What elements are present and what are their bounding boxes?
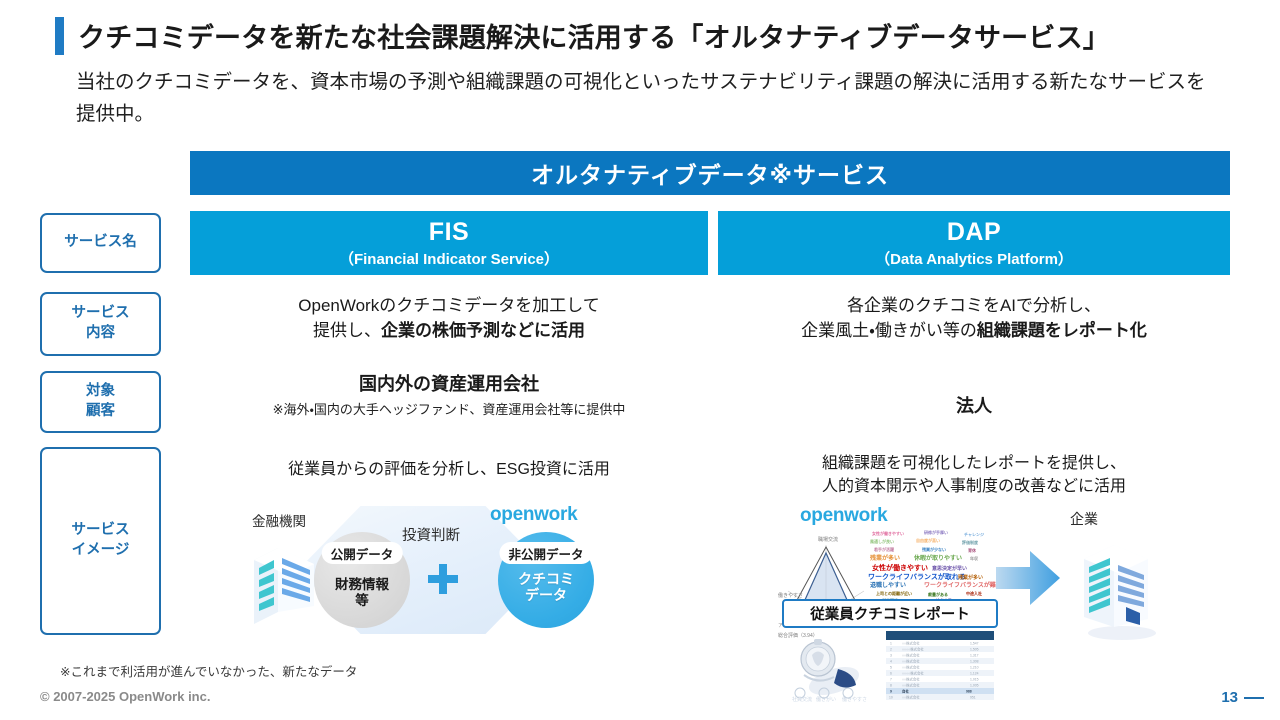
svg-text:ワークライフバランスが取れる: ワークライフバランスが取れる [868, 572, 966, 581]
service-description-dap: 各企業のクチコミをAIで分析し、 企業風土・働きがい等の組織課題をレポート化 [718, 294, 1230, 343]
row-label-service-image-text: サービス イメージ [72, 521, 130, 560]
openwork-logo-fis: openwork [490, 504, 577, 526]
svg-text:研修が手厚い: 研修が手厚い [924, 529, 948, 535]
ranking-table-thumbnail: 1○○株式会社1,547 2○○○○株式会社1,505 3○○株式会社1,317… [886, 631, 994, 703]
service-fullname-fis: （Financial Indicator Service） [339, 248, 559, 269]
svg-text:1,210: 1,210 [970, 665, 979, 669]
svg-text:8: 8 [890, 683, 892, 687]
svg-text:1,547: 1,547 [970, 641, 979, 645]
svg-text:10: 10 [889, 695, 893, 699]
service-header-dap: DAP （Data Analytics Platform） [718, 211, 1230, 275]
dap-desc-line2-bold: 組織課題をレポート化 [977, 321, 1147, 340]
company-building-icon [1070, 529, 1162, 641]
svg-text:1,505: 1,505 [970, 647, 979, 651]
bank-building-icon [248, 534, 324, 626]
svg-text:2: 2 [890, 647, 892, 651]
svg-text:育休: 育休 [968, 547, 977, 553]
svg-text:風通しが良い: 風通しが良い [869, 538, 894, 544]
svg-text:5: 5 [890, 665, 892, 669]
svg-text:4: 4 [890, 659, 892, 663]
svg-text:上司との距離が近い: 上司との距離が近い [876, 590, 912, 596]
svg-text:1,015: 1,015 [970, 677, 979, 681]
service-image-caption-dap: 組織課題を可視化したレポートを提供し、 人的資本開示や人事制度の改善などに活用 [718, 452, 1230, 498]
row-label-service-content: サービス 内容 [40, 292, 161, 356]
row-label-target-customer: 対象 顧客 [40, 371, 161, 433]
title-accent-bar [55, 17, 64, 55]
fis-target-sub: ※海外・国内の大手ヘッジファンド、資産運用会社等に提供中 [190, 401, 708, 419]
svg-text:年収: 年収 [970, 555, 979, 561]
fis-illustration: 金融機関 公開データ 財務情報 等 投資判断 [240, 500, 640, 640]
page-number-group: 13 [1221, 689, 1264, 706]
svg-text:○○株式会社: ○○株式会社 [902, 640, 920, 645]
target-customer-dap: 法人 [718, 394, 1230, 419]
svg-text:1,005: 1,005 [970, 683, 979, 687]
fis-desc-line2-normal: 提供し、 [313, 321, 381, 340]
private-data-circle: 非公開データ クチコミ データ [498, 532, 594, 628]
plus-icon [426, 562, 460, 596]
flow-arrow-icon [994, 543, 1064, 613]
svg-text:チャレンジ: チャレンジ [964, 532, 984, 537]
service-abbr-dap: DAP [947, 218, 1001, 247]
private-data-pill-label: 非公開データ [499, 542, 592, 564]
svg-text:6: 6 [890, 671, 892, 675]
svg-text:○○株式会社: ○○株式会社 [902, 676, 920, 681]
svg-text:1,308: 1,308 [970, 659, 979, 663]
svg-text:働きやすさ: 働きやすさ [778, 592, 803, 599]
service-header-fis: FIS （Financial Indicator Service） [190, 211, 708, 275]
svg-text:中途入社: 中途入社 [966, 590, 982, 596]
openwork-logo-dap: openwork [800, 505, 887, 527]
row-label-service-name-text: サービス名 [64, 233, 137, 253]
private-data-body-text: クチコミ データ [518, 571, 574, 603]
public-data-circle: 公開データ 財務情報 等 [314, 532, 410, 628]
svg-text:○○株式会社: ○○株式会社 [902, 664, 920, 669]
page-number-rule [1244, 697, 1264, 699]
service-fullname-dap: （Data Analytics Platform） [875, 248, 1073, 269]
slide-subtitle: 当社のクチコミデータを、資本市場の予測や組織課題の可視化といったサステナビリティ… [76, 66, 1206, 130]
alternative-data-band: オルタナティブデータ※サービス [190, 151, 1230, 195]
service-description-fis: OpenWorkのクチコミデータを加工して 提供し、企業の株価予測などに活用 [190, 294, 708, 343]
row-label-service-image: サービス イメージ [40, 447, 161, 635]
svg-text:自由度が高い: 自由度が高い [916, 537, 940, 543]
svg-text:7: 7 [890, 677, 892, 681]
dap-target-main: 法人 [718, 394, 1230, 419]
svg-text:1,317: 1,317 [970, 653, 979, 657]
page-title: クチコミデータを新たな社会課題解決に活用する「オルタナティブデータサービス」 [78, 16, 1110, 55]
fis-desc-line2: 提供し、企業の株価予測などに活用 [190, 319, 708, 344]
svg-text:○○株式会社: ○○株式会社 [902, 658, 920, 663]
svg-text:○○○○株式会社: ○○○○株式会社 [902, 670, 924, 675]
svg-text:職場交流: 職場交流 [818, 536, 838, 543]
svg-text:3: 3 [890, 653, 892, 657]
row-label-target-customer-text: 対象 顧客 [86, 382, 115, 421]
svg-text:○○株式会社: ○○株式会社 [902, 652, 920, 657]
row-label-service-name: サービス名 [40, 213, 161, 273]
dap-desc-line2: 企業風土・働きがい等の組織課題をレポート化 [718, 319, 1230, 344]
svg-text:評価制度: 評価制度 [962, 539, 978, 545]
service-abbr-fis: FIS [429, 218, 469, 247]
svg-text:残業が少ない: 残業が少ない [921, 546, 946, 552]
svg-text:女性が働きやすい: 女性が働きやすい [872, 530, 904, 536]
fis-target-main: 国内外の資産運用会社 [190, 372, 708, 397]
svg-text:○○株式会社: ○○株式会社 [902, 694, 920, 699]
financial-institution-label: 金融機関 [252, 510, 306, 530]
slide-canvas: クチコミデータを新たな社会課題解決に活用する「オルタナティブデータサービス」 当… [0, 0, 1280, 720]
svg-text:9: 9 [890, 689, 892, 693]
dap-desc-line2-normal: 企業風土・働きがい等の [801, 321, 977, 340]
svg-text:残業が多い: 残業が多い [869, 554, 900, 562]
dap-desc-line1: 各企業のクチコミをAIで分析し、 [718, 294, 1230, 319]
slide-title-row: クチコミデータを新たな社会課題解決に活用する「オルタナティブデータサービス」 [55, 16, 1110, 55]
fis-desc-line1: OpenWorkのクチコミデータを加工して [190, 294, 708, 319]
svg-text:裁量がある: 裁量がある [928, 591, 948, 597]
svg-text:意思決定が早い: 意思決定が早い [931, 565, 967, 572]
investment-judgement-label: 投資判断 [402, 524, 460, 545]
target-customer-fis: 国内外の資産運用会社 ※海外・国内の大手ヘッジファンド、資産運用会社等に提供中 [190, 372, 708, 419]
svg-text:若手が活躍: 若手が活躍 [873, 546, 894, 552]
svg-text:残業が多い: 残業が多い [957, 574, 983, 581]
svg-text:951: 951 [970, 695, 976, 699]
fis-desc-line2-bold: 企業の株価予測などに活用 [381, 321, 585, 340]
copyright-text: © 2007-2025 OpenWork inc. [40, 689, 210, 704]
award-badge-icon: 社員交流働きがい働きやすさ [788, 631, 868, 707]
svg-text:休暇が取りやすい: 休暇が取りやすい [913, 554, 962, 562]
public-data-body-text: 財務情報 等 [335, 577, 389, 609]
public-data-pill-label: 公開データ [322, 542, 403, 564]
dap-illustration: openwork 企業 職場交流 働きやすさ アラ 総合評価（3.94） [770, 505, 1190, 710]
dap-caption-line2: 人的資本開示や人事制度の改善などに活用 [718, 475, 1230, 498]
svg-text:○○株式会社: ○○株式会社 [902, 682, 920, 687]
svg-text:988: 988 [966, 689, 972, 693]
svg-text:○○○○株式会社: ○○○○株式会社 [902, 646, 924, 651]
svg-text:1,124: 1,124 [970, 671, 979, 675]
slide-footnote: ※これまで利活用が進んでいなかった、新たなデータ [60, 661, 357, 680]
svg-text:自社: 自社 [902, 688, 909, 693]
employee-review-report-label: 従業員クチコミレポート [782, 599, 998, 628]
svg-text:女性が働きやすい: 女性が働きやすい [872, 563, 928, 572]
company-label: 企業 [1070, 509, 1098, 529]
dap-caption-line1: 組織課題を可視化したレポートを提供し、 [718, 452, 1230, 475]
page-number: 13 [1221, 689, 1238, 706]
word-cloud-thumbnail: 女性が働きやすい 研修が手厚い チャレンジ 風通しが良い 自由度が高い 評価制度… [866, 527, 998, 605]
svg-text:ワークライフバランスが難しい: ワークライフバランスが難しい [924, 581, 998, 589]
svg-text:退職しやすい: 退職しやすい [870, 581, 906, 589]
row-label-service-content-text: サービス 内容 [72, 304, 130, 343]
service-image-caption-fis: 従業員からの評価を分析し、ESG投資に活用 [190, 458, 708, 481]
svg-text:1: 1 [890, 641, 892, 645]
